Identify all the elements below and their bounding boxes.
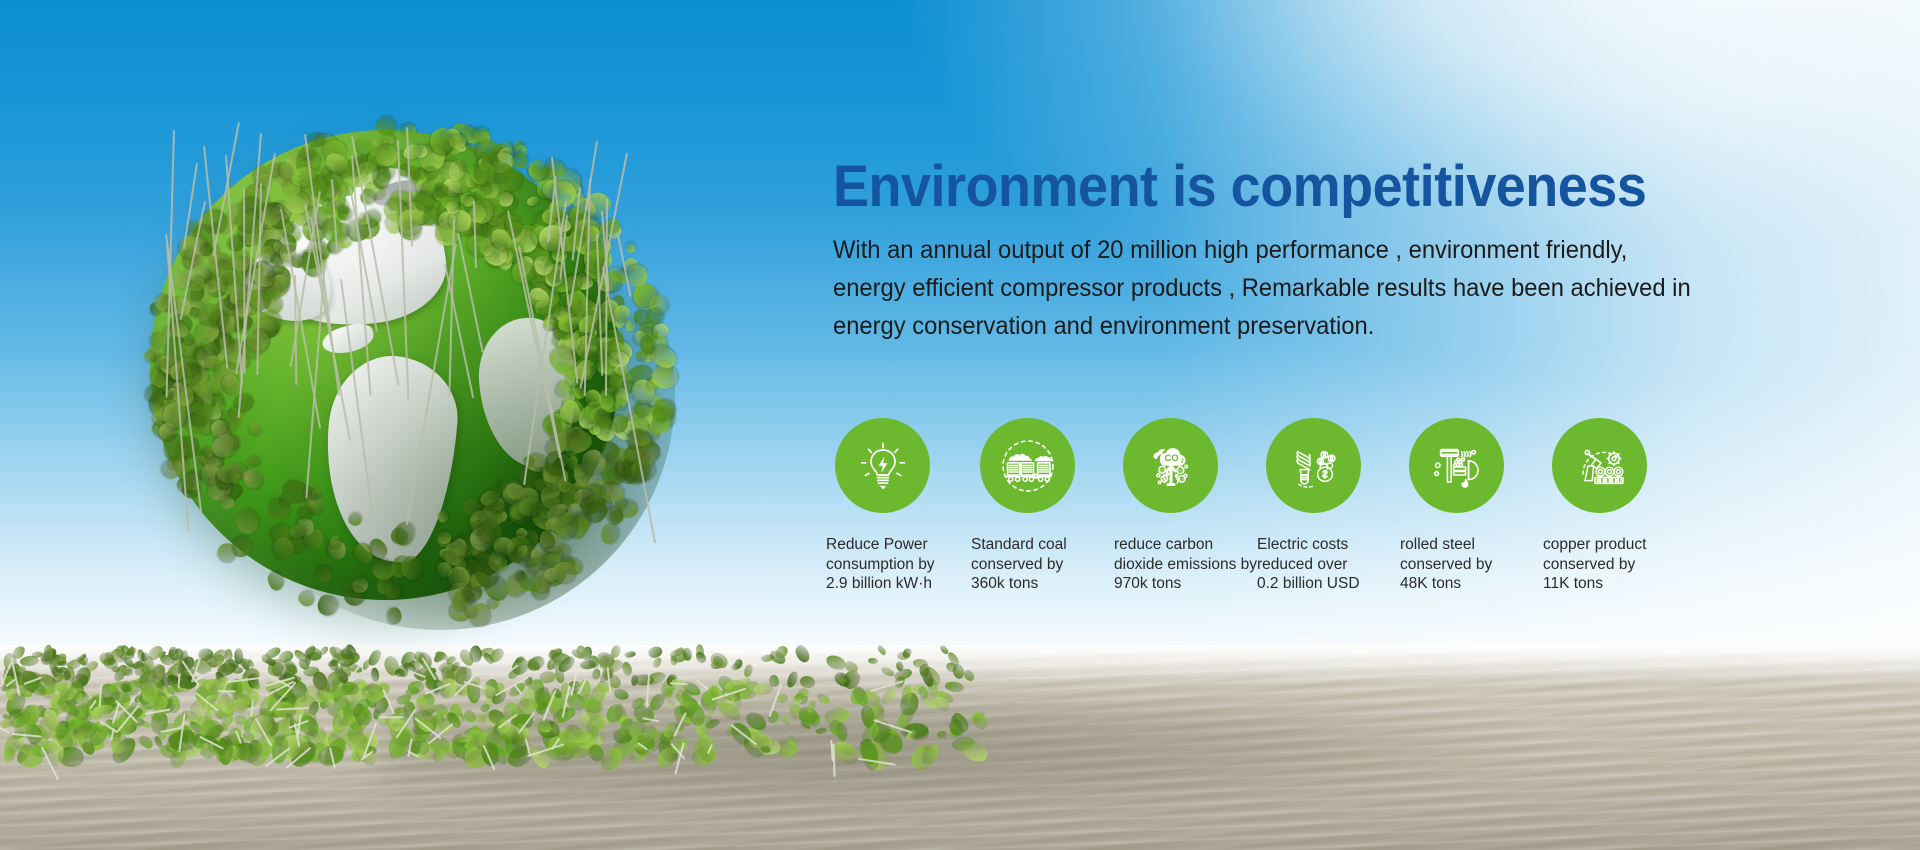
- caption-line-1: Electric costs: [1257, 535, 1397, 555]
- co2-cloud-arrow-icon[interactable]: CO 2 CO CO CO CO: [1123, 418, 1218, 513]
- globe-shading: [205, 160, 675, 630]
- stat-caption: Reduce Power consumption by 2.9 billion …: [826, 535, 966, 594]
- stat-item-reduce-carbon[interactable]: CO 2 CO CO CO CO: [1114, 418, 1254, 594]
- caption-line-3: 970k tons: [1114, 574, 1254, 594]
- caption-line-2: conserved by: [1543, 555, 1683, 575]
- caption-line-3: 2.9 billion kW·h: [826, 574, 966, 594]
- caption-line-2: conserved by: [971, 555, 1111, 575]
- stat-item-standard-coal[interactable]: Standard coal conserved by 360k tons: [971, 418, 1111, 594]
- lightbulb-bolt-icon[interactable]: [835, 418, 930, 513]
- svg-text:CO: CO: [1177, 468, 1182, 472]
- caption-line-1: reduce carbon: [1114, 535, 1254, 555]
- caption-line-1: Reduce Power: [826, 535, 966, 555]
- page-title: Environment is competitiveness: [833, 155, 1772, 219]
- text-panel: Environment is competitiveness With an a…: [833, 155, 1843, 345]
- svg-text:2: 2: [1180, 458, 1183, 464]
- body-line-3: energy conservation and environment pres…: [833, 307, 1688, 345]
- caption-line-1: Standard coal: [971, 535, 1111, 555]
- caption-line-3: 48K tons: [1400, 574, 1540, 594]
- caption-line-2: consumption by: [826, 555, 966, 575]
- stat-item-rolled-steel[interactable]: rolled steel conserved by 48K tons: [1400, 418, 1540, 594]
- stats-row: Reduce Power consumption by 2.9 billion …: [826, 418, 1866, 608]
- stat-item-copper-product[interactable]: copper product conserved by 11K tons: [1543, 418, 1683, 594]
- stat-item-reduce-power[interactable]: Reduce Power consumption by 2.9 billion …: [826, 418, 966, 594]
- copper-foundry-gear-icon[interactable]: [1552, 418, 1647, 513]
- svg-text:CO: CO: [1179, 477, 1184, 481]
- caption-line-3: 0.2 billion USD: [1257, 574, 1397, 594]
- green-globe-illustration: [95, 100, 715, 700]
- globe-sphere: [150, 130, 620, 600]
- stat-caption: rolled steel conserved by 48K tons: [1400, 535, 1540, 594]
- stat-caption: Standard coal conserved by 360k tons: [971, 535, 1111, 594]
- svg-text:CO: CO: [1162, 477, 1167, 481]
- stat-item-electric-costs[interactable]: Electric costs reduced over 0.2 billion …: [1257, 418, 1397, 594]
- svg-text:CO: CO: [1164, 453, 1178, 464]
- stat-caption: reduce carbon dioxide emissions by 970k …: [1114, 535, 1254, 594]
- caption-line-2: conserved by: [1400, 555, 1540, 575]
- caption-line-2: reduced over: [1257, 555, 1397, 575]
- caption-line-2: dioxide emissions by: [1114, 555, 1254, 575]
- caption-line-3: 11K tons: [1543, 574, 1683, 594]
- svg-text:CO: CO: [1159, 468, 1164, 472]
- body-line-1: With an annual output of 20 million high…: [833, 231, 1688, 269]
- environment-banner: Environment is competitiveness With an a…: [0, 0, 1920, 850]
- caption-line-1: copper product: [1543, 535, 1683, 555]
- stat-caption: copper product conserved by 11K tons: [1543, 535, 1683, 594]
- body-line-2: energy efficient compressor products , R…: [833, 269, 1688, 307]
- cfl-bulb-coins-icon[interactable]: [1266, 418, 1361, 513]
- ivy-ground-carpet: [0, 640, 1000, 760]
- coal-train-icon[interactable]: [980, 418, 1075, 513]
- body-paragraph: With an annual output of 20 million high…: [833, 231, 1688, 345]
- stat-caption: Electric costs reduced over 0.2 billion …: [1257, 535, 1397, 594]
- hammer-steel-ladle-icon[interactable]: [1409, 418, 1504, 513]
- caption-line-1: rolled steel: [1400, 535, 1540, 555]
- caption-line-3: 360k tons: [971, 574, 1111, 594]
